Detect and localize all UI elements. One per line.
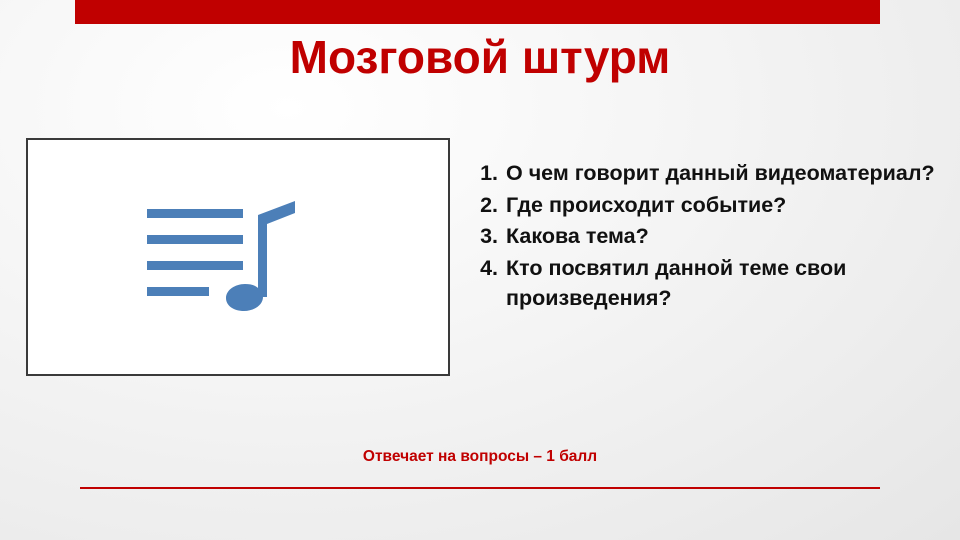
page-title: Мозговой штурм: [0, 32, 960, 83]
list-item-label: О чем говорит данный видеоматериал?: [506, 161, 935, 185]
question-list: 1. О чем говорит данный видеоматериал? 2…: [470, 158, 940, 315]
media-placeholder[interactable]: [26, 138, 450, 376]
top-red-bar: [75, 0, 880, 24]
slide: Мозговой штурм 1. О чем говорит данный в…: [0, 0, 960, 540]
footer-note: Отвечает на вопросы – 1 балл: [0, 448, 960, 466]
list-item-number: 1.: [470, 158, 498, 189]
list-item-number: 4.: [470, 253, 498, 284]
list-item-label: Кто посвятил данной теме свои произведен…: [506, 256, 846, 311]
list-item: 1. О чем говорит данный видеоматериал?: [470, 158, 940, 189]
list-item-label: Где происходит событие?: [506, 193, 786, 217]
list-item: 3. Какова тема?: [470, 221, 940, 252]
music-note-media-icon: [143, 197, 333, 317]
list-item: 2. Где происходит событие?: [470, 190, 940, 221]
list-item-number: 2.: [470, 190, 498, 221]
bottom-red-rule: [80, 487, 880, 489]
list-item-number: 3.: [470, 221, 498, 252]
list-item: 4. Кто посвятил данной теме свои произве…: [470, 253, 940, 314]
list-item-label: Какова тема?: [506, 224, 649, 248]
